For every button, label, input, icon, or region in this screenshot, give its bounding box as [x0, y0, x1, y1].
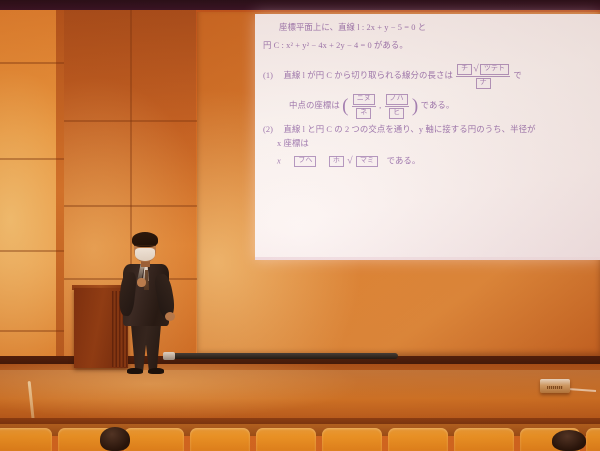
answer-box[interactable]: ナ: [476, 78, 491, 89]
slide-text: である。: [387, 156, 421, 165]
answer-box[interactable]: マミ: [356, 156, 378, 167]
slide-line-question-2: (2) 直線 l と円 C の 2 つの交点を通り、y 軸に接する円のうち、半径…: [263, 126, 536, 134]
question-number: (2): [263, 125, 273, 134]
seat: [586, 428, 600, 451]
presenter-shoe: [127, 368, 143, 374]
stage-rail-bar: [170, 353, 398, 359]
slide-text: で: [513, 71, 521, 80]
fraction-denominator: ネ: [352, 107, 376, 119]
comma: ,: [379, 101, 381, 110]
slide-text: x 座標は: [277, 139, 309, 148]
fraction-numerator: ノハ: [385, 94, 409, 107]
fraction-denominator: ナ: [456, 77, 510, 89]
slide-line-intro-1: 座標平面上に、直線 l : 2x + y − 5 = 0 と: [279, 24, 426, 32]
seat: [256, 428, 316, 451]
variable-x: x: [277, 156, 281, 165]
wall-seam: [0, 62, 64, 64]
answer-box[interactable]: ツテト: [480, 64, 509, 75]
seat: [0, 428, 52, 451]
presenter-legs: [128, 323, 164, 371]
wall-seam: [0, 158, 64, 160]
slide-text: 中点の座標は: [289, 101, 340, 110]
slide-line-intro-2: 円 C : x² + y² − 4x + 2y − 4 = 0 がある。: [263, 42, 408, 50]
answer-fraction-length: チ√ツテト ナ: [456, 64, 510, 89]
seat: [322, 428, 382, 451]
seat: [388, 428, 448, 451]
slide-text: 座標平面上に、直線 l : 2x + y − 5 = 0 と: [279, 23, 426, 32]
slide-line-question-1: (1) 直線 l が円 C から切り取られる線分の長さは チ√ツテト ナ で: [263, 64, 522, 89]
answer-fraction-mid-y: ノハ ヒ: [385, 94, 409, 119]
seat: [454, 428, 514, 451]
question-number: (1): [263, 71, 273, 80]
slide-content: 座標平面上に、直線 l : 2x + y − 5 = 0 と 円 C : x² …: [255, 14, 600, 260]
fraction-numerator: チ√ツテト: [456, 64, 510, 77]
slide-text: 直線 l が円 C から切り取られる線分の長さは: [283, 71, 452, 80]
answer-box[interactable]: ニヌ: [353, 94, 375, 105]
seat: [124, 428, 184, 451]
seat: [190, 428, 250, 451]
presenter-shoe: [148, 368, 164, 374]
answer-box[interactable]: ノハ: [386, 94, 408, 105]
slide-line-midpoint: 中点の座標は ( ニヌ ネ , ノハ: [289, 94, 454, 119]
slide-line-question-2b: x 座標は: [277, 140, 309, 148]
fraction-numerator: ニヌ: [352, 94, 376, 107]
stage-floor-device-vent: [547, 386, 563, 389]
projection-screen-image: 座標平面上に、直線 l : 2x + y − 5 = 0 と 円 C : x² …: [255, 14, 600, 260]
presenter: [112, 228, 186, 374]
slide-text: である。: [421, 101, 455, 110]
presenter-hand-right: [165, 312, 175, 321]
wall-panel-left: [0, 10, 56, 372]
radical-icon: √: [473, 63, 479, 74]
slide-text: 直線 l と円 C の 2 つの交点を通り、y 軸に接する円のうち、半径が: [283, 125, 535, 134]
paren-open: (: [342, 96, 348, 117]
presenter-hand-holding-microphone: [137, 278, 146, 287]
paren-close: ): [412, 96, 418, 117]
slide-text: 円 C : x² + y² − 4x + 2y − 4 = 0 がある。: [263, 41, 408, 50]
answer-fraction-mid-x: ニヌ ネ: [352, 94, 376, 119]
wall-panel-seam-vertical: [56, 10, 64, 372]
stage-floor-reflection: [0, 370, 600, 400]
auditorium-seats: [0, 428, 600, 451]
answer-box[interactable]: ネ: [356, 108, 371, 119]
answer-box[interactable]: ホ: [329, 156, 344, 167]
fraction-denominator: ヒ: [385, 107, 409, 119]
projection-screen: 座標平面上に、直線 l : 2x + y − 5 = 0 と 円 C : x² …: [197, 12, 600, 356]
wall-seam: [0, 250, 64, 252]
answer-box[interactable]: チ: [457, 64, 472, 75]
answer-box[interactable]: ヒ: [389, 108, 404, 119]
audience-head: [100, 427, 130, 451]
slide-line-question-2c: x フヘ ホ √ マミ である。: [277, 156, 420, 167]
lecture-hall-photo: 座標平面上に、直線 l : 2x + y − 5 = 0 と 円 C : x² …: [0, 0, 600, 451]
face-mask: [135, 248, 155, 261]
audience-head: [552, 430, 586, 451]
wall-seam: [0, 330, 64, 332]
answer-box[interactable]: フヘ: [294, 156, 316, 167]
radical-icon: √: [347, 155, 353, 166]
